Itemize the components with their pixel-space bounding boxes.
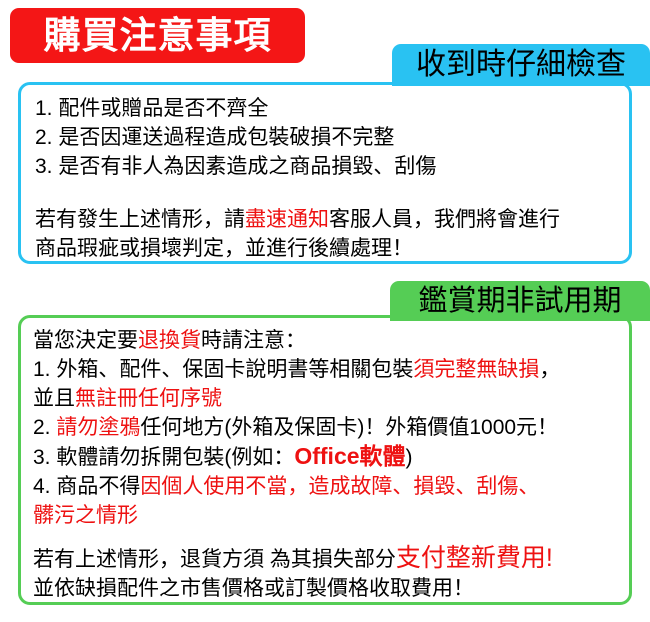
return-item-3-line: 3. 軟體請勿拆開包裝(例如：Office軟體) (33, 442, 629, 472)
return-section-panel: 當您決定要退換貨時請注意： 1. 外箱、配件、保固卡說明書等相關包裝須完整無缺損… (18, 315, 632, 605)
return-footer-text-1: 若有上述情形，退貨方須 為其損失部分 (33, 548, 396, 571)
return-item-4-line-2: 髒污之情形 (33, 501, 629, 530)
return-item-1-text-3: 並且 (33, 387, 75, 410)
inspect-section-tab-label: 收到時仔細檢查 (416, 50, 626, 80)
inspect-note-line-1: 若有發生上述情形，請盡速通知客服人員，我們將會進行 (35, 205, 629, 234)
return-item-3-highlight: Office軟體 (294, 443, 405, 469)
return-footer-line-1: 若有上述情形，退貨方須 為其損失部分支付整新費用! (33, 544, 629, 574)
return-item-1-text-2: ， (539, 358, 560, 381)
return-item-3-prefix: 3. 軟體請勿拆開包裝(例如： (33, 446, 294, 469)
return-intro-text-1: 當您決定要 (33, 329, 138, 352)
return-intro-line: 當您決定要退換貨時請注意： (33, 326, 629, 355)
inspect-section-panel: 1. 配件或贈品是否不齊全 2. 是否因運送過程造成包裝破損不完整 3. 是否有… (18, 82, 632, 264)
page-title: 購買注意事項 (44, 17, 272, 54)
return-item-1-text-1: 1. 外箱、配件、保固卡說明書等相關包裝 (33, 358, 413, 381)
inspect-note-text-2: 客服人員，我們將會進行 (329, 208, 560, 231)
return-spacer (33, 530, 629, 544)
return-footer-line-2: 並依缺損配件之市售價格或訂製價格收取費用！ (33, 574, 629, 603)
return-intro-highlight: 退換貨 (138, 329, 201, 352)
inspect-note-line-2: 商品瑕疵或損壞判定，並進行後續處理！ (35, 234, 629, 263)
page-title-badge: 購買注意事項 (10, 8, 305, 63)
return-intro-text-2: 時請注意： (201, 329, 306, 352)
inspect-item-2: 2. 是否因運送過程造成包裝破損不完整 (35, 123, 629, 152)
return-item-1-highlight-2: 無註冊任何序號 (75, 387, 222, 410)
return-item-4-highlight-2: 髒污之情形 (33, 504, 138, 527)
return-item-2-text: 任何地方(外箱及保固卡)！外箱價值1000元！ (140, 416, 558, 439)
inspect-note-highlight: 盡速通知 (245, 208, 329, 231)
return-item-1-line-2: 並且無註冊任何序號 (33, 384, 629, 413)
return-section-tab: 鑑賞期非試用期 (390, 281, 650, 321)
inspect-note-text-1: 若有發生上述情形，請 (35, 208, 245, 231)
return-item-2-highlight: 請勿塗鴉 (56, 416, 140, 439)
inspect-item-3: 3. 是否有非人為因素造成之商品損毀、刮傷 (35, 152, 629, 181)
return-item-2-line: 2. 請勿塗鴉任何地方(外箱及保固卡)！外箱價值1000元！ (33, 413, 629, 442)
return-item-4-line-1: 4. 商品不得因個人使用不當，造成故障、損毀、刮傷、 (33, 472, 629, 501)
inspect-section-tab: 收到時仔細檢查 (392, 44, 650, 86)
return-section-tab-label: 鑑賞期非試用期 (418, 287, 621, 316)
inspect-spacer (35, 181, 629, 205)
return-item-2-prefix: 2. (33, 416, 56, 439)
return-item-1-highlight-1: 須完整無缺損 (413, 358, 539, 381)
return-footer-highlight: 支付整新費用! (396, 544, 553, 572)
return-item-3-suffix: ) (406, 446, 413, 469)
return-item-4-prefix: 4. 商品不得 (33, 475, 140, 498)
return-item-4-highlight-1: 因個人使用不當，造成故障、損毀、刮傷、 (140, 475, 539, 498)
inspect-item-1: 1. 配件或贈品是否不齊全 (35, 94, 629, 123)
return-item-1-line-1: 1. 外箱、配件、保固卡說明書等相關包裝須完整無缺損， (33, 355, 629, 384)
